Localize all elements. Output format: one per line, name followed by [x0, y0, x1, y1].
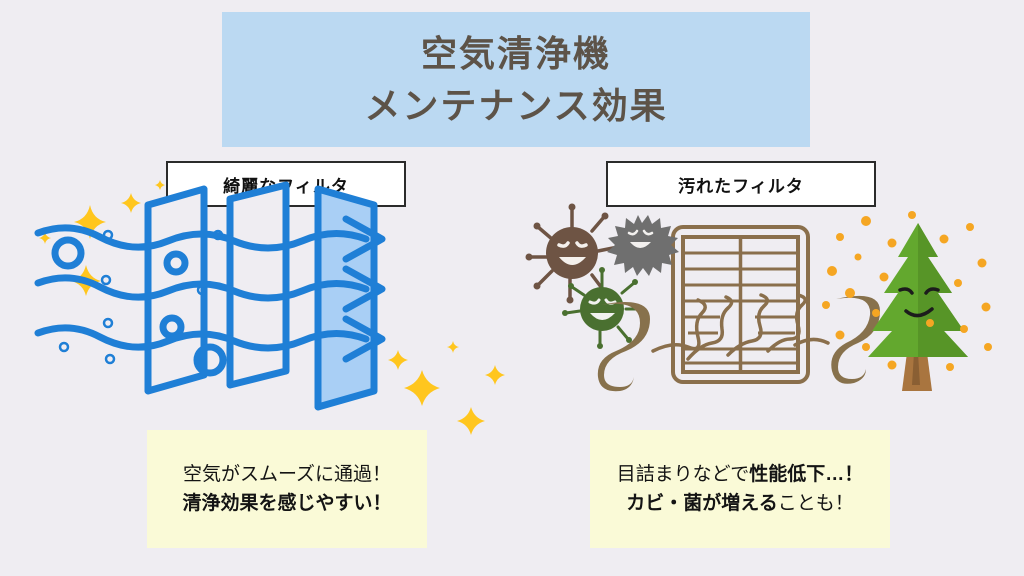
- pollen-dot: [982, 303, 991, 312]
- caption-clean-line2: 清浄効果を感じやすい！: [182, 489, 391, 518]
- pollen-dot: [822, 301, 830, 309]
- pollen-dot: [836, 233, 844, 241]
- pollen-dot: [954, 279, 962, 287]
- caption-dirty-line1-part1: 目詰まりなどで: [617, 464, 750, 485]
- pollen-dot: [862, 343, 870, 351]
- pollen-dot: [880, 273, 889, 282]
- particle-small: [104, 319, 112, 327]
- sparkle-icon: [155, 180, 165, 190]
- caption-dirty-line2-part2: ことも！: [778, 493, 854, 514]
- particle-small: [102, 276, 110, 284]
- odor-swirl-right: [831, 296, 880, 384]
- clog-squiggle: [728, 295, 767, 355]
- pollen-dot: [861, 216, 871, 226]
- caption-clean-line1-text: 空気がスムーズに通過！: [183, 464, 391, 485]
- caption-dirty-line1-part2: 性能低下…！: [749, 464, 863, 485]
- pollen-dot: [855, 254, 862, 261]
- particle-large: [55, 240, 81, 266]
- caption-clean-filter: 空気がスムーズに通過！ 清浄効果を感じやすい！: [147, 430, 427, 548]
- caption-dirty-line2-part1: カビ・菌が増える: [626, 493, 777, 514]
- header-band: 空気清浄機 メンテナンス効果: [222, 12, 810, 147]
- pollen-dot: [872, 309, 880, 317]
- sparkle-icon: [404, 370, 440, 406]
- caption-dirty-filter: 目詰まりなどで性能低下…！ カビ・菌が増えることも！: [590, 430, 890, 548]
- sparkle-icon: [121, 193, 141, 213]
- label-dirty-filter-text: 汚れたフィルタ: [678, 172, 804, 197]
- pollen-dot: [926, 319, 934, 327]
- caption-clean-line2-text: 清浄効果を感じやすい！: [182, 493, 391, 514]
- pollen-dot: [908, 211, 916, 219]
- infographic-canvas: 空気清浄機 メンテナンス効果 綺麗なフィルタ 汚れたフィルタ: [0, 0, 1024, 576]
- pollen-dot: [827, 266, 837, 276]
- germ-body: [546, 227, 598, 279]
- filter-grille: [673, 227, 808, 382]
- pollen-dot: [845, 288, 855, 298]
- germ-green: [562, 267, 644, 349]
- cedar-tree-character: [822, 211, 992, 391]
- clog-squiggle: [653, 300, 705, 351]
- caption-dirty-line1: 目詰まりなどで性能低下…！: [617, 460, 864, 489]
- filter-panel-mid: [230, 185, 286, 385]
- sparkle-icon: [485, 365, 505, 385]
- germ-gray: [607, 215, 679, 276]
- clean-filter-illustration: [30, 175, 530, 430]
- pollen-dot: [966, 223, 974, 231]
- caption-dirty-line2: カビ・菌が増えることも！: [626, 489, 853, 518]
- dirty-filter-illustration: [540, 195, 1010, 425]
- sparkle-icon: [388, 350, 408, 370]
- particle-small: [106, 355, 114, 363]
- pollen-dot: [984, 343, 992, 351]
- pollen-dot: [946, 363, 954, 371]
- sparkle-icon: [447, 341, 459, 353]
- pollen-dot: [940, 235, 949, 244]
- page-title-line2: メンテナンス効果: [364, 80, 667, 131]
- pollen-dot: [960, 325, 968, 333]
- pollen-dot: [888, 239, 897, 248]
- caption-clean-line1: 空気がスムーズに通過！: [183, 460, 391, 489]
- pollen-dot: [836, 331, 845, 340]
- particle-small: [60, 343, 68, 351]
- sparkle-icon: [457, 407, 485, 435]
- pollen-dot: [978, 259, 987, 268]
- germ-body: [580, 287, 624, 331]
- page-title-line1: 空気清浄機: [421, 28, 611, 79]
- germ-group: [526, 204, 680, 350]
- pollen-dot: [888, 361, 897, 370]
